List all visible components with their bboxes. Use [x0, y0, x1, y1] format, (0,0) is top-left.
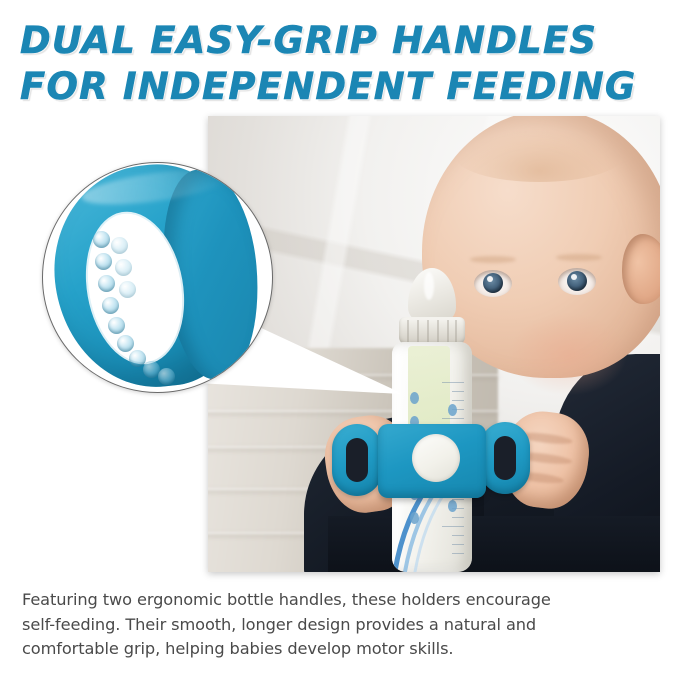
grip-bump	[102, 297, 119, 314]
baby-ear	[622, 234, 660, 304]
baby-cheek	[508, 312, 628, 396]
grip-bump	[98, 275, 115, 292]
bottle-handle-collar	[378, 424, 486, 498]
bottle-handle-left	[332, 424, 382, 496]
product-feature-card: DUAL EASY-GRIP HANDLES FOR INDEPENDENT F…	[0, 0, 679, 679]
grip-bump	[93, 231, 110, 248]
baby-brow-left	[470, 256, 516, 263]
grip-bump	[119, 281, 136, 298]
baby-torso-lower	[328, 516, 660, 572]
handle-closeup-illustration	[42, 162, 273, 393]
description-line-3: comfortable grip, helping babies develop…	[22, 637, 662, 662]
grip-bump	[158, 368, 175, 385]
grip-bump	[111, 237, 128, 254]
grip-bump	[108, 317, 125, 334]
product-lifestyle-photo	[208, 116, 660, 572]
grip-bump	[117, 335, 134, 352]
baby-brow-right	[556, 254, 602, 261]
headline-line-1: DUAL EASY-GRIP HANDLES	[20, 18, 660, 64]
grip-bump	[95, 253, 112, 270]
headline-line-2: FOR INDEPENDENT FEEDING	[20, 64, 660, 110]
baby-bottle	[384, 284, 480, 572]
page-title: DUAL EASY-GRIP HANDLES FOR INDEPENDENT F…	[20, 18, 660, 110]
grip-bump	[115, 259, 132, 276]
description-line-2: self-feeding. Their smooth, longer desig…	[22, 613, 662, 638]
bottle-handle-right	[480, 422, 530, 494]
handle-collar-window	[412, 434, 460, 482]
baby-eye-right	[558, 268, 596, 295]
bottle-collar	[399, 317, 465, 345]
description-line-1: Featuring two ergonomic bottle handles, …	[22, 588, 662, 613]
handle-closeup-inset	[42, 162, 273, 393]
baby-hair	[454, 128, 624, 182]
feature-description: Featuring two ergonomic bottle handles, …	[22, 588, 662, 662]
